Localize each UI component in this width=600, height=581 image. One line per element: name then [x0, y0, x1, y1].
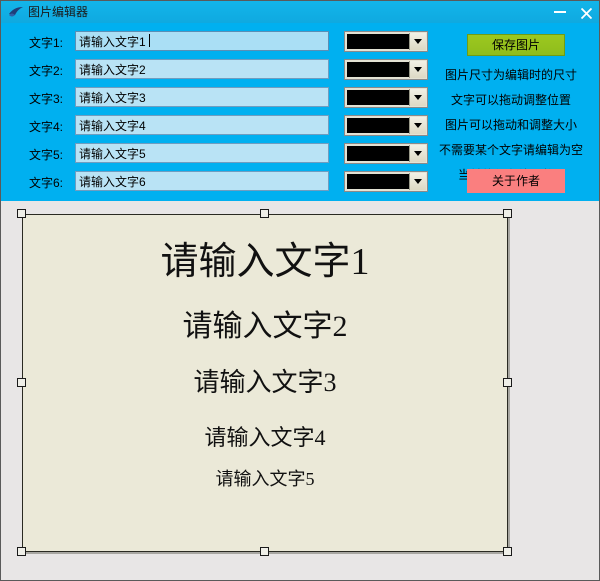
info-line-2: 文字可以拖动调整位置 — [421, 91, 600, 108]
handle-top-left[interactable] — [17, 209, 26, 218]
canvas-text-2[interactable]: 请输入文字2 — [23, 312, 507, 342]
color-swatch-2 — [347, 62, 409, 77]
color-swatch-4 — [347, 118, 409, 133]
handle-bottom-left[interactable] — [17, 547, 26, 556]
info-line-4: 不需要某个文字请编辑为空 — [421, 141, 600, 158]
color-swatch-5 — [347, 146, 409, 161]
text-input-1[interactable] — [75, 31, 329, 51]
application-window: 图片编辑器 文字1: 文字2: — [0, 0, 600, 581]
canvas-text-5[interactable]: 请输入文字5 — [23, 470, 507, 488]
info-line-1: 图片尺寸为编辑时的尺寸 — [421, 66, 600, 83]
text-field-label-1: 文字1: — [29, 34, 79, 51]
chevron-down-icon-1[interactable] — [409, 33, 426, 50]
color-combo-1[interactable] — [344, 31, 428, 52]
canvas-text-3[interactable]: 请输入文字3 — [23, 370, 507, 396]
text-caret — [149, 34, 150, 47]
form-panel: 文字1: 文字2: 文字3: 文字 — [1, 23, 599, 201]
handle-middle-right[interactable] — [503, 378, 512, 387]
color-combo-6[interactable] — [344, 171, 428, 192]
color-combo-2[interactable] — [344, 59, 428, 80]
color-swatch-6 — [347, 174, 409, 189]
text-field-label-2: 文字2: — [29, 62, 79, 79]
color-combo-5[interactable] — [344, 143, 428, 164]
handle-top-center[interactable] — [260, 209, 269, 218]
close-button[interactable] — [573, 1, 599, 22]
text-field-label-3: 文字3: — [29, 90, 79, 107]
color-swatch-3 — [347, 90, 409, 105]
editor-workspace[interactable]: 请输入文字1 请输入文字2 请输入文字3 请输入文字4 请输入文字5 — [1, 201, 599, 580]
save-image-button[interactable]: 保存图片 — [467, 34, 565, 56]
minimize-button[interactable] — [547, 1, 573, 22]
handle-middle-left[interactable] — [17, 378, 26, 387]
text-input-5[interactable] — [75, 143, 329, 163]
text-input-6[interactable] — [75, 171, 329, 191]
text-field-label-6: 文字6: — [29, 174, 79, 191]
arrow-brush-icon — [8, 5, 24, 19]
color-combo-4[interactable] — [344, 115, 428, 136]
canvas-text-1[interactable]: 请输入文字1 — [23, 243, 507, 281]
color-swatch-1 — [347, 34, 409, 49]
image-canvas[interactable]: 请输入文字1 请输入文字2 请输入文字3 请输入文字4 请输入文字5 — [22, 214, 508, 552]
handle-top-right[interactable] — [503, 209, 512, 218]
text-input-2[interactable] — [75, 59, 329, 79]
text-input-3[interactable] — [75, 87, 329, 107]
handle-bottom-center[interactable] — [260, 547, 269, 556]
window-title: 图片编辑器 — [28, 4, 88, 20]
text-field-label-4: 文字4: — [29, 118, 79, 135]
text-field-label-5: 文字5: — [29, 146, 79, 163]
about-author-button[interactable]: 关于作者 — [467, 169, 565, 193]
color-combo-3[interactable] — [344, 87, 428, 108]
handle-bottom-right[interactable] — [503, 547, 512, 556]
text-input-4[interactable] — [75, 115, 329, 135]
info-line-3: 图片可以拖动和调整大小 — [421, 116, 600, 133]
canvas-text-4[interactable]: 请输入文字4 — [23, 427, 507, 449]
title-bar: 图片编辑器 — [1, 1, 600, 23]
